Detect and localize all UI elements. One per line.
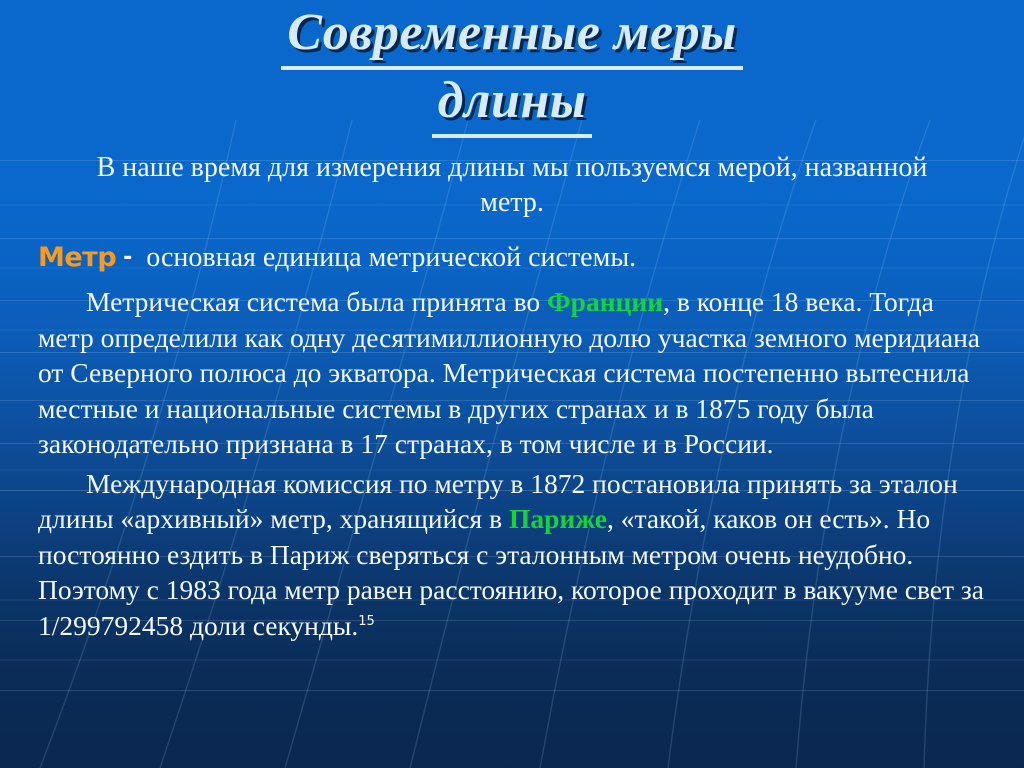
footnote-marker: 15 — [358, 613, 375, 628]
intro-paragraph: В наше время для измерения длины мы поль… — [38, 150, 986, 220]
paragraph-metric-system: Метрическая система была принята во Фран… — [38, 284, 986, 462]
definition-dash: - — [123, 245, 132, 270]
slide-body: В наше время для измерения длины мы поль… — [38, 150, 986, 647]
slide-title-line-2: длины — [432, 70, 593, 138]
slide-title-line-1: Современные меры — [281, 2, 742, 70]
paragraph1-part1: Метрическая система была принята во — [86, 286, 547, 317]
slide-title: Современные меры длины — [0, 2, 1024, 138]
presentation-slide: Современные меры длины В наше время для … — [0, 0, 1024, 768]
highlight-france: Франции — [547, 286, 663, 317]
latitude-line — [0, 690, 1024, 691]
definition-line: Метр - основная единица метрической сист… — [38, 240, 986, 276]
definition-text: основная единица метрической системы. — [146, 242, 636, 273]
definition-term: Метр — [38, 242, 116, 273]
highlight-paris: Париже — [509, 503, 607, 534]
paragraph-international-commission: Международная комиссия по метру в 1872 п… — [38, 466, 986, 644]
